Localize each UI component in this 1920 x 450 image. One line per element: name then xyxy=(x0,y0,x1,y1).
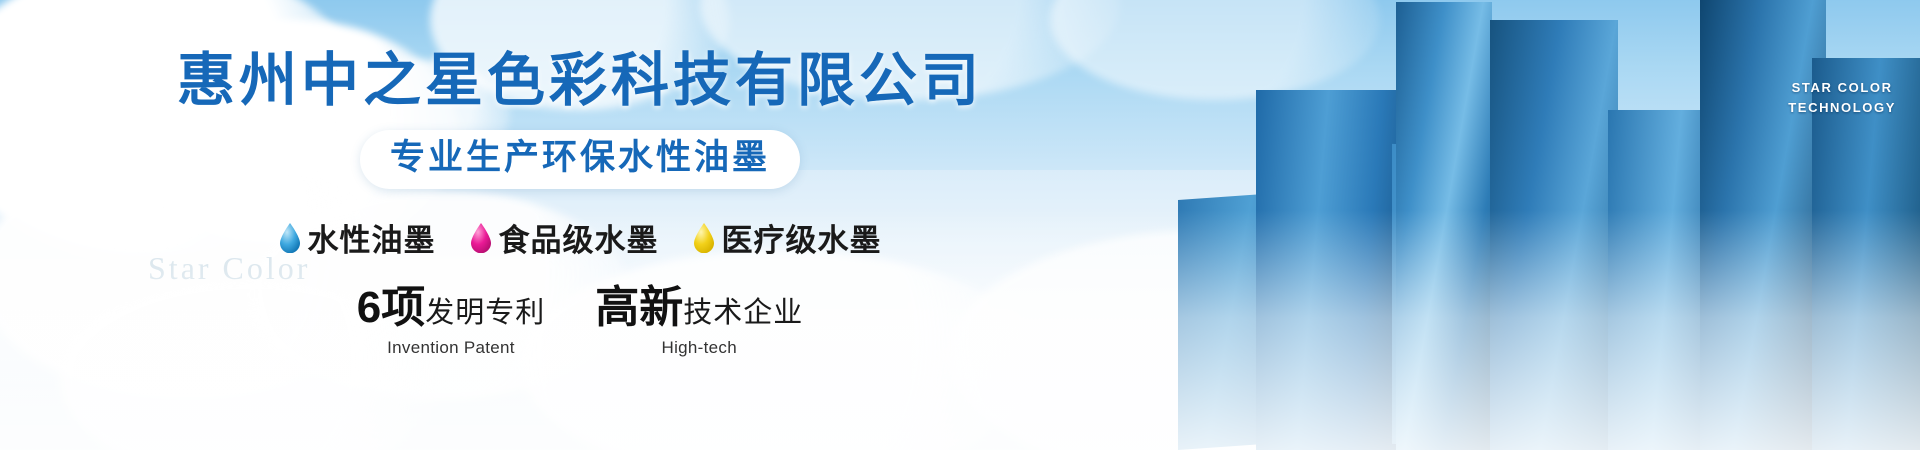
water-drop-icon xyxy=(470,223,492,253)
badge-small-text: 技术企业 xyxy=(683,297,803,329)
feature-list: 水性油墨 食品级水墨 医疗级水墨 xyxy=(279,215,882,260)
badge-big-text: 6项 xyxy=(357,283,425,332)
tagline-pill: 专业生产环保水性油墨 xyxy=(360,130,800,189)
status-badge: 6项发明专利 Invention Patent xyxy=(357,286,546,358)
badge-big-text: 高新 xyxy=(595,283,683,332)
feature-label: 水性油墨 xyxy=(308,215,436,260)
status-badge: 高新技术企业 High-tech xyxy=(595,286,803,358)
badge-main: 6项发明专利 xyxy=(357,286,546,330)
tagline-text: 专业生产环保水性油墨 xyxy=(390,137,770,179)
promo-banner: Star Color STAR COLOR TECHNOLOGY 惠州中之星色彩… xyxy=(0,0,1920,450)
logo-line-2: TECHNOLOGY xyxy=(1788,98,1896,118)
badge-main: 高新技术企业 xyxy=(595,286,803,330)
badge-list: 6项发明专利 Invention Patent 高新技术企业 High-tech xyxy=(357,286,804,358)
logo-line-1: STAR COLOR xyxy=(1788,78,1896,98)
list-item: 医疗级水墨 xyxy=(693,215,882,260)
feature-label: 食品级水墨 xyxy=(499,215,659,260)
banner-content: 惠州中之星色彩科技有限公司 专业生产环保水性油墨 水性油墨 xyxy=(0,0,1160,450)
water-drop-icon xyxy=(693,223,715,253)
badge-english-caption: High-tech xyxy=(595,338,803,358)
star-color-logo: STAR COLOR TECHNOLOGY xyxy=(1788,78,1896,118)
list-item: 食品级水墨 xyxy=(470,215,659,260)
feature-label: 医疗级水墨 xyxy=(722,215,882,260)
company-title: 惠州中之星色彩科技有限公司 xyxy=(177,52,983,110)
badge-small-text: 发明专利 xyxy=(425,297,545,329)
list-item: 水性油墨 xyxy=(279,215,436,260)
water-drop-icon xyxy=(279,223,301,253)
badge-english-caption: Invention Patent xyxy=(357,338,546,358)
